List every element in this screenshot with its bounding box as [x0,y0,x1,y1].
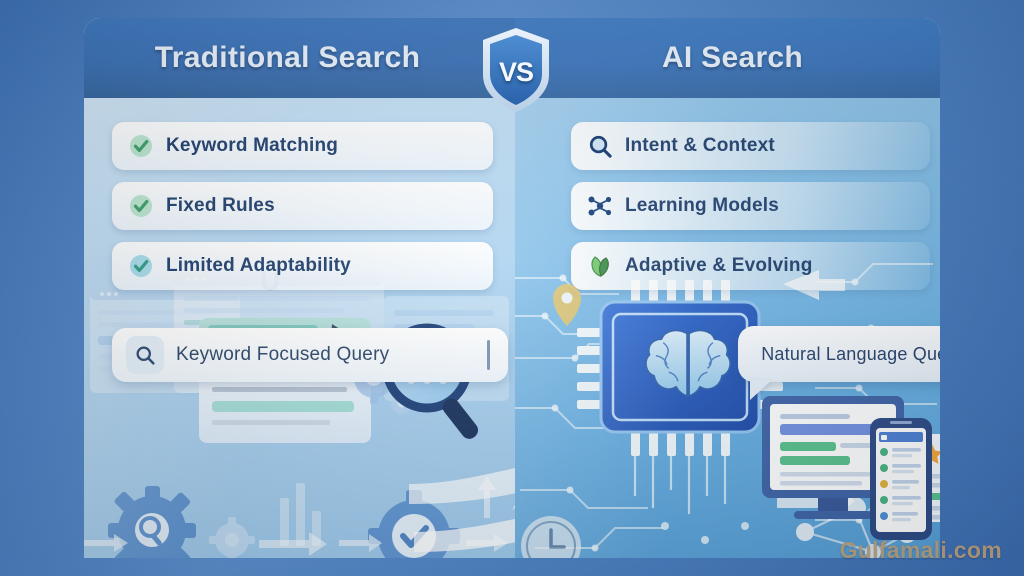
magnifier-icon [126,336,164,374]
magnifier-icon [587,133,613,159]
traditional-search-illustration: U [84,268,515,558]
monitor-icon [762,396,904,519]
check-circle-icon [128,193,154,219]
traditional-search-panel: U Traditional Search Keyword Matching Fi… [84,18,515,558]
text-cursor [487,340,490,370]
arrow-icon-group [777,270,855,521]
circuit-traces [515,264,939,548]
feature-label: Intent & Context [625,135,775,157]
feature-row-limited-adaptability[interactable]: Limited Adaptability [112,242,493,290]
ai-results-devices [760,390,940,558]
feature-label: Limited Adaptability [166,255,351,277]
infographic-canvas: U Traditional Search Keyword Matching Fi… [0,0,1024,576]
check-circle-icon [128,253,154,279]
feature-row-learning-models[interactable]: Learning Models [571,182,930,230]
ai-chip-brain [601,302,759,432]
left-panel-title: Traditional Search [84,18,515,98]
feature-row-fixed-rules[interactable]: Fixed Rules [112,182,493,230]
gear-icon-check [368,490,460,558]
keyword-search-bar[interactable]: Keyword Focused Query [112,328,508,382]
bubble-tail [750,380,772,400]
feature-label: Keyword Matching [166,135,338,157]
bar-chart-ghost [280,483,321,546]
smartphone-icon [870,418,932,540]
ai-search-illustration [515,258,940,558]
clock-icon [521,516,581,558]
feature-label: Adaptive & Evolving [625,255,813,277]
ai-feature-list: Intent & Context Learning Models [571,122,930,302]
search-input[interactable]: Keyword Focused Query [176,344,475,366]
feature-label: Learning Models [625,195,779,217]
feature-label: Fixed Rules [166,195,275,217]
vs-shield-badge: VS [481,27,551,113]
watermark: Gulfamali.com [840,537,1002,564]
natural-language-query-bubble[interactable]: Natural Language Query [738,326,940,382]
feature-row-intent-context[interactable]: Intent & Context [571,122,930,170]
gear-icon-search [108,486,196,558]
gear-icon-small [209,517,255,558]
traditional-feature-list: Keyword Matching Fixed Rules Limited Ada… [112,122,493,302]
check-circle-icon [128,133,154,159]
node-graph-icon [587,193,613,219]
leaf-icon [587,253,613,279]
transition-arrows [404,458,515,558]
arrow-icon-row [84,476,508,556]
feature-row-adaptive-evolving[interactable]: Adaptive & Evolving [571,242,930,290]
circuit-nodes [542,275,875,552]
feature-row-keyword-matching[interactable]: Keyword Matching [112,122,493,170]
vs-label: VS [481,27,551,113]
star-rating [922,444,941,464]
rating-card [918,434,940,522]
ai-search-panel: AI Search Intent & Context Le [515,18,940,558]
right-panel-title: AI Search [515,18,940,98]
bubble-text: Natural Language Query [761,344,940,365]
